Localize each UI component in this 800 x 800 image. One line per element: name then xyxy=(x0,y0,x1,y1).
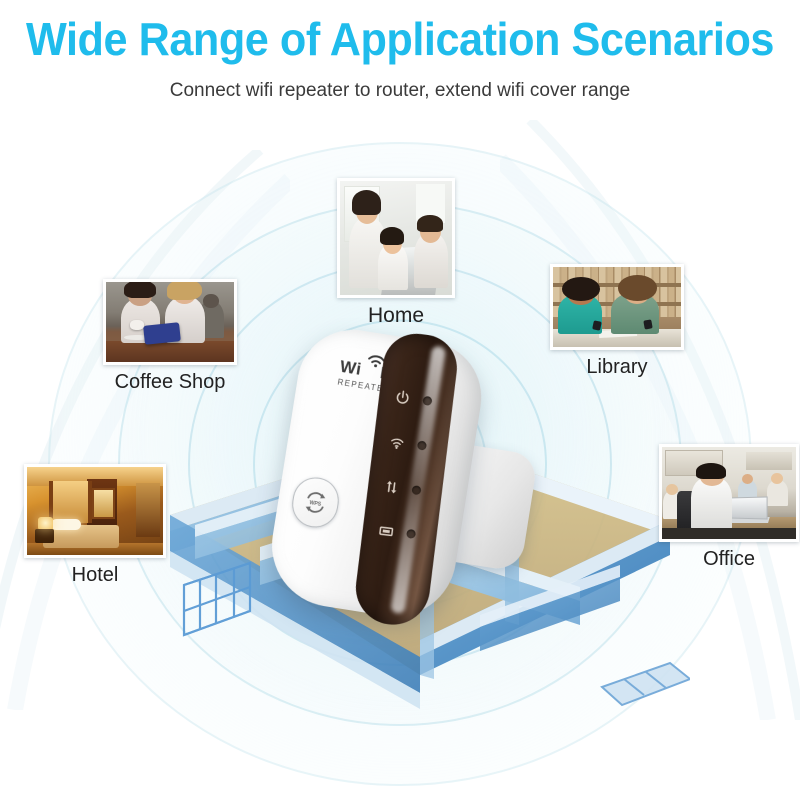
scenario-home-label: Home xyxy=(337,304,455,328)
scenario-hotel-label: Hotel xyxy=(24,564,166,587)
scenario-library: Library xyxy=(550,264,684,379)
lan-port-icon xyxy=(378,522,395,539)
scenario-library-photo xyxy=(550,264,684,350)
scenario-hotel: Hotel xyxy=(24,464,166,587)
scenario-home-photo xyxy=(337,178,455,298)
page-title: Wide Range of Application Scenarios xyxy=(24,16,776,62)
brand-wi-text: Wi xyxy=(339,357,363,379)
application-scenarios-banner: Wide Range of Application Scenarios Conn… xyxy=(0,0,800,800)
scenario-home: Home xyxy=(337,178,455,328)
scenario-office-label: Office xyxy=(659,548,799,571)
page-subtitle: Connect wifi repeater to router, extend … xyxy=(0,80,800,102)
power-icon xyxy=(394,389,411,406)
scenario-library-label: Library xyxy=(550,356,684,379)
wifi-signal-icon xyxy=(389,434,406,451)
scenario-coffee-shop-label: Coffee Shop xyxy=(103,371,237,394)
scenario-office-photo xyxy=(659,444,799,542)
wps-refresh-icon: WPS xyxy=(301,488,331,518)
scenario-coffee-shop-photo xyxy=(103,279,237,365)
scenario-office: Office xyxy=(659,444,799,571)
wps-button-label: WPS xyxy=(309,500,322,508)
transfer-arrows-icon xyxy=(383,479,400,496)
wifi-repeater-device: WiFi REPEATER WPS xyxy=(252,320,530,638)
scenario-hotel-photo xyxy=(24,464,166,558)
scenario-coffee-shop: Coffee Shop xyxy=(103,279,237,394)
